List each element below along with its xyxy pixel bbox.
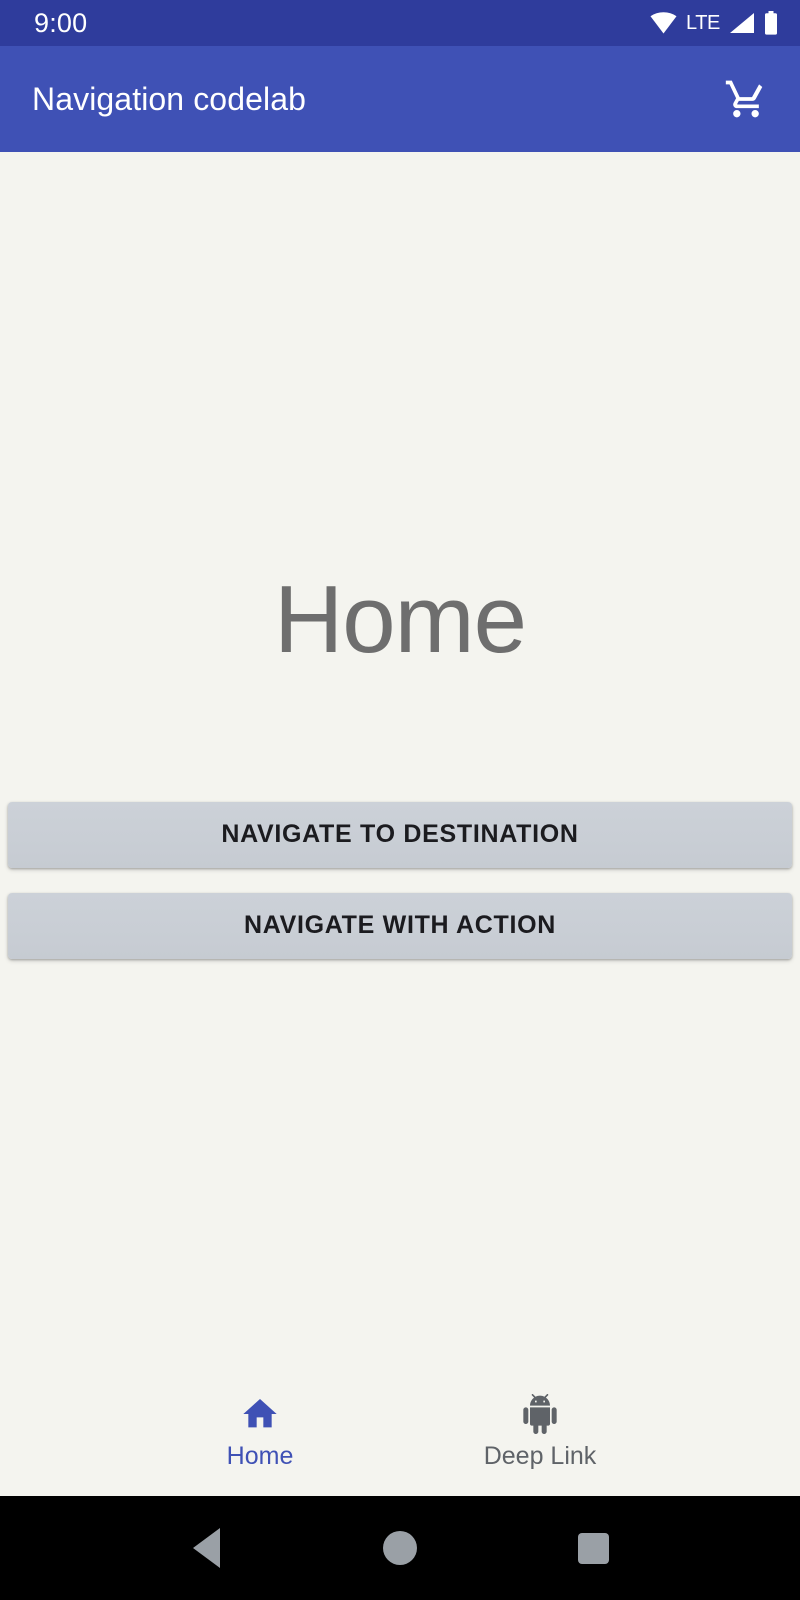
android-robot-icon bbox=[520, 1394, 560, 1434]
shopping-cart-button[interactable] bbox=[718, 71, 774, 127]
bottom-nav-item-deep-link[interactable]: Deep Link bbox=[400, 1394, 680, 1469]
app-bar: Navigation codelab bbox=[0, 46, 800, 152]
main-content: Home NAVIGATE TO DESTINATION NAVIGATE WI… bbox=[0, 152, 800, 1496]
network-type-label: LTE bbox=[686, 13, 720, 33]
circle-home-icon bbox=[383, 1531, 417, 1565]
navigate-with-action-button[interactable]: NAVIGATE WITH ACTION bbox=[8, 893, 792, 959]
recents-button[interactable] bbox=[557, 1512, 629, 1584]
page-title: Home bbox=[274, 572, 526, 668]
action-buttons: NAVIGATE TO DESTINATION NAVIGATE WITH AC… bbox=[0, 802, 800, 959]
signal-icon bbox=[729, 12, 755, 34]
mid-spacer bbox=[0, 686, 800, 802]
bottom-spacer bbox=[0, 959, 800, 1379]
home-button[interactable] bbox=[364, 1512, 436, 1584]
battery-icon bbox=[764, 11, 778, 35]
app-bar-title: Navigation codelab bbox=[32, 81, 718, 118]
bottom-navigation-bar: Home Deep Link bbox=[0, 1378, 800, 1496]
phone-screen: 9:00 LTE Navigation codel bbox=[0, 0, 800, 1600]
system-navigation-bar bbox=[0, 1496, 800, 1600]
wifi-icon bbox=[650, 12, 677, 34]
bottom-nav-item-home[interactable]: Home bbox=[120, 1394, 400, 1469]
home-icon bbox=[240, 1394, 280, 1434]
navigate-to-destination-button[interactable]: NAVIGATE TO DESTINATION bbox=[8, 802, 792, 868]
shopping-cart-icon bbox=[724, 77, 768, 121]
square-recents-icon bbox=[578, 1533, 609, 1564]
triangle-back-icon bbox=[193, 1528, 220, 1568]
top-spacer bbox=[0, 152, 800, 572]
back-button[interactable] bbox=[171, 1512, 243, 1584]
page-heading-wrap: Home bbox=[0, 572, 800, 686]
bottom-nav-label-deep-link: Deep Link bbox=[484, 1444, 597, 1469]
status-bar: 9:00 LTE bbox=[0, 0, 800, 46]
status-bar-icons: LTE bbox=[650, 11, 778, 35]
bottom-nav-label-home: Home bbox=[227, 1444, 294, 1469]
status-bar-clock: 9:00 bbox=[34, 10, 87, 37]
